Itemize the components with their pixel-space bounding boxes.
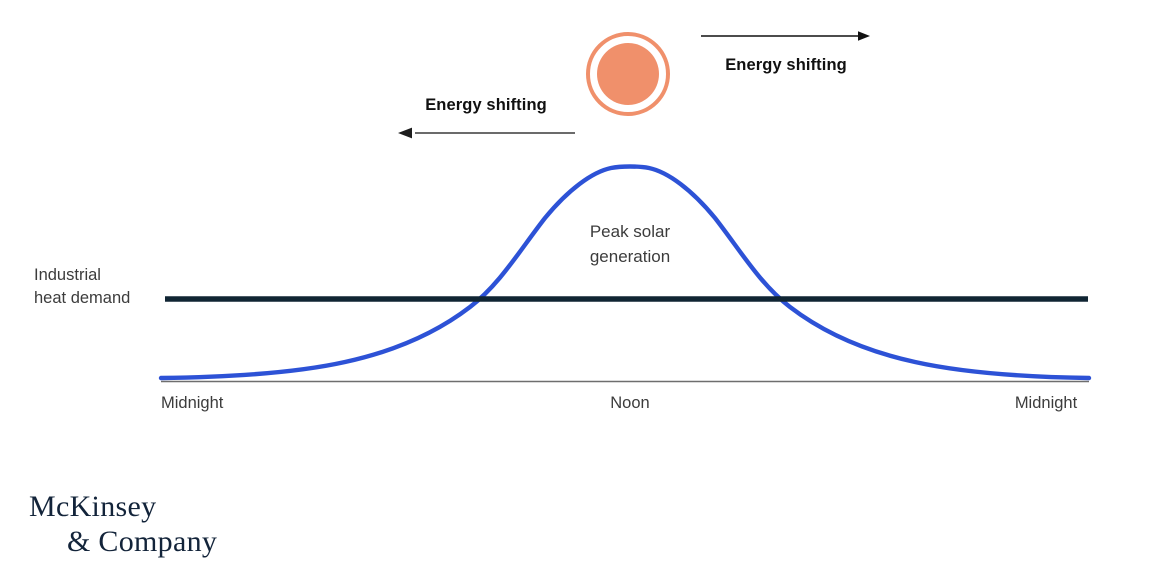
sun-icon [586, 32, 670, 116]
peak-label-line1: Peak solar [590, 222, 670, 241]
figure-canvas: Energy shifting Energy shifting Peak sol… [0, 0, 1150, 564]
arrow-right-icon [700, 28, 872, 44]
chart-plot [0, 0, 1150, 564]
demand-label-line1: Industrial [34, 266, 101, 284]
peak-label-line2: generation [590, 247, 670, 266]
x-tick-midnight-left: Midnight [161, 394, 223, 413]
solar-generation-curve [161, 167, 1089, 379]
energy-shifting-left-label: Energy shifting [396, 96, 576, 115]
x-tick-noon: Noon [548, 394, 712, 413]
mckinsey-logo: McKinsey & Company [29, 489, 217, 559]
energy-shifting-right-group: Energy shifting [700, 28, 872, 75]
arrow-left-icon [396, 125, 576, 141]
energy-shifting-left-group: Energy shifting [396, 96, 576, 141]
demand-label-line2: heat demand [34, 289, 130, 307]
logo-line-1: McKinsey [29, 490, 156, 523]
sun-core [597, 43, 659, 105]
x-tick-midnight-right: Midnight [1004, 394, 1088, 413]
energy-shifting-right-label: Energy shifting [700, 56, 872, 75]
logo-line-2: & Company [29, 524, 217, 559]
industrial-heat-demand-label: Industrial heat demand [34, 264, 162, 310]
peak-solar-generation-label: Peak solar generation [548, 219, 712, 269]
